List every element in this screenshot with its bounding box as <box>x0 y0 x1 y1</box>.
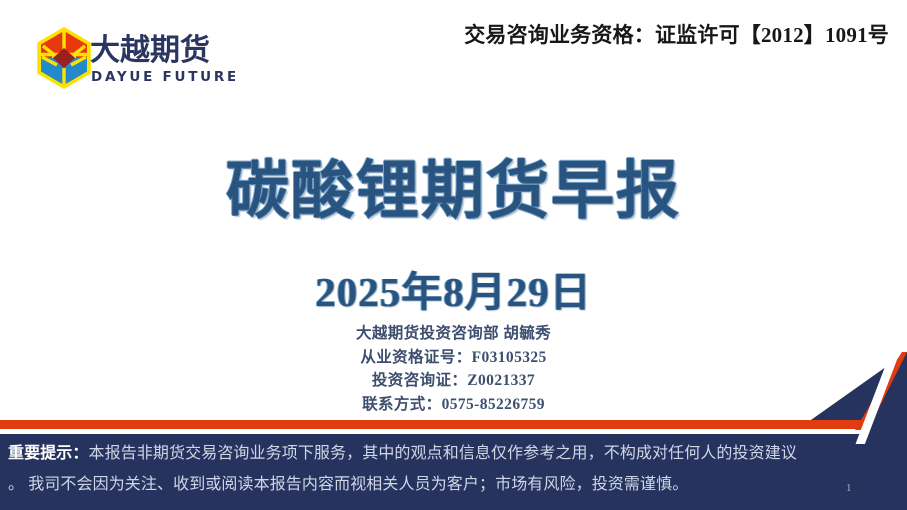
disclaimer-line-1: 重要提示：本报告非期货交易咨询业务项下服务，其中的观点和信息仅作参考之用，不构成… <box>0 438 890 469</box>
logo-chinese-name: 大越期货 <box>90 33 210 68</box>
disclaimer-label: 重要提示： <box>8 445 89 462</box>
author-department-name: 大越期货投资咨询部 胡毓秀 <box>0 322 907 346</box>
slide-canvas: 大越期货 DAYUE FUTURES 交易咨询业务资格：证监许可【2012】10… <box>0 0 907 510</box>
important-notice: 重要提示：本报告非期货交易咨询业务项下服务，其中的观点和信息仅作参考之用，不构成… <box>0 438 890 500</box>
page-number: 1 <box>846 482 852 494</box>
disclaimer-line-1-text: 本报告非期货交易咨询业务项下服务，其中的观点和信息仅作参考之用，不构成对任何人的… <box>89 445 797 462</box>
company-logo: 大越期货 DAYUE FUTURES <box>33 25 233 91</box>
dayue-futures-wordmark: 大越期货 DAYUE FUTURES <box>90 29 235 87</box>
report-date: 2025年8月29日 <box>0 258 907 318</box>
page-title: 碳酸锂期货早报 <box>0 158 907 224</box>
dayue-hexagon-logo-icon <box>33 27 95 89</box>
stripe-white-gap <box>0 429 866 434</box>
logo-english-name: DAYUE FUTURES <box>91 69 235 85</box>
orange-stripe <box>0 420 862 429</box>
qualification-statement: 交易咨询业务资格：证监许可【2012】1091号 <box>464 19 889 49</box>
disclaimer-line-2: 。 我司不会因为关注、收到或阅读本报告内容而视相关人员为客户；市场有风险，投资需… <box>0 469 890 500</box>
